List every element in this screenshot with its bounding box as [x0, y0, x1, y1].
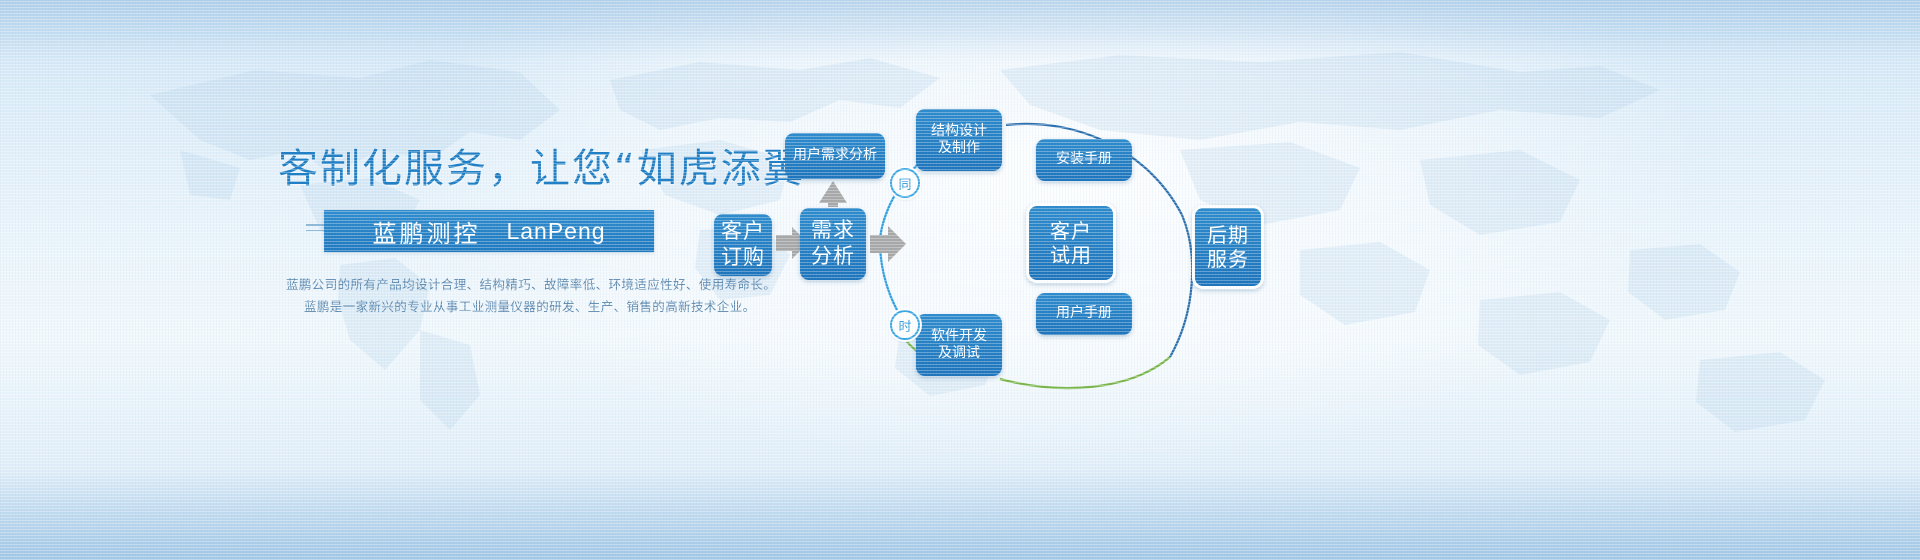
flow-badge-simultaneous-tong: 同: [890, 168, 920, 198]
flow-node-after-sales-service[interactable]: 后期 服务: [1192, 205, 1264, 289]
flow-badge-label: 时: [898, 316, 911, 335]
flow-node-software-development-and-debugging[interactable]: 软件开发 及调试: [916, 314, 1002, 376]
flow-node-label-line1: 结构设计: [931, 123, 987, 140]
flow-node-label-line2: 订购: [721, 245, 765, 271]
flow-node-label-line1: 客户: [1050, 219, 1092, 243]
bottom-edge-shade: [0, 470, 1920, 560]
flow-node-label-line2: 分析: [811, 244, 855, 270]
flow-node-label-line1: 需求: [811, 218, 855, 244]
flow-node-label-line1: 软件开发: [931, 328, 987, 345]
brand-name-cn: 蓝鹏测控: [372, 214, 480, 249]
flow-node-requirement-analysis[interactable]: 需求 分析: [800, 208, 866, 280]
process-flow-diagram: 用户需求分析 客户 订购 需求 分析 结构设计 及制作 软件开发 及调试 安装手…: [700, 95, 1920, 425]
arrow-analysis-to-ring: [870, 226, 906, 262]
flow-node-installation-manual[interactable]: 安装手册: [1036, 139, 1132, 181]
flow-node-user-manual[interactable]: 用户手册: [1036, 293, 1132, 335]
arrow-analysis-to-user-req: [819, 181, 847, 207]
top-edge-shade: [0, 0, 1920, 60]
flow-node-label-line2: 及制作: [938, 140, 980, 157]
flow-node-user-requirement-analysis[interactable]: 用户需求分析: [785, 133, 885, 179]
flow-node-label-line2: 服务: [1207, 247, 1249, 271]
flow-node-label-line2: 试用: [1050, 243, 1092, 267]
brand-name-en: LanPeng: [506, 218, 605, 245]
flow-node-label-line1: 后期: [1207, 223, 1249, 247]
brand-bar: 蓝鹏测控 LanPeng: [324, 210, 654, 252]
flow-node-label: 安装手册: [1056, 151, 1112, 168]
flow-node-structural-design-and-fabrication[interactable]: 结构设计 及制作: [916, 109, 1002, 171]
flow-badge-simultaneous-shi: 时: [890, 310, 920, 340]
flow-node-label-line1: 客户: [721, 219, 765, 245]
banner-stage: 客制化服务，让您“如虎添翼” 蓝鹏测控 LanPeng 蓝鹏公司的所有产品均设计…: [0, 0, 1920, 560]
flow-node-customer-order[interactable]: 客户 订购: [714, 214, 772, 276]
flow-node-label: 用户需求分析: [793, 147, 877, 164]
flow-node-label: 用户手册: [1056, 305, 1112, 322]
flow-node-customer-trial[interactable]: 客户 试用: [1026, 203, 1116, 283]
flow-node-label-line2: 及调试: [938, 345, 980, 362]
flow-badge-label: 同: [898, 174, 911, 193]
